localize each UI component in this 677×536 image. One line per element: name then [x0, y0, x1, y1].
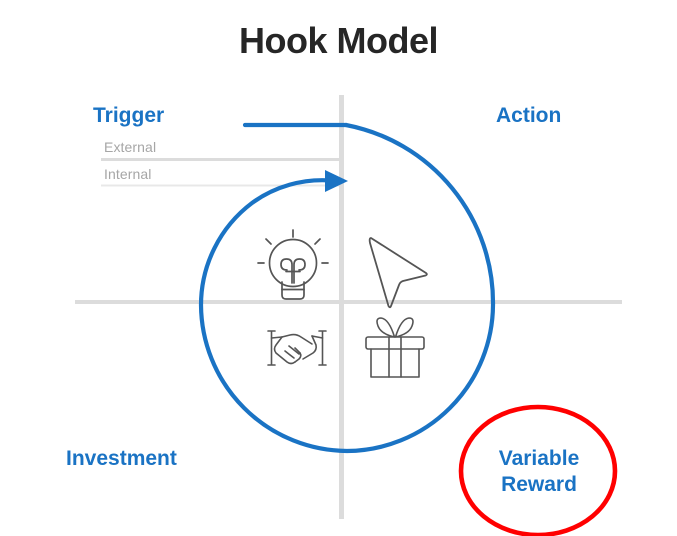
- lightbulb-icon: [258, 230, 328, 299]
- quadrant-label-trigger: Trigger: [93, 104, 164, 128]
- page-title: Hook Model: [0, 20, 677, 62]
- quadrant-label-action: Action: [496, 104, 561, 128]
- trigger-sub-label-external: External: [104, 139, 156, 155]
- cycle-arrowhead-icon: [325, 170, 348, 192]
- variable-reward-line-1: Variable: [499, 447, 580, 470]
- gift-box-icon: [366, 318, 424, 377]
- cursor-arrow-icon: [370, 238, 427, 307]
- cycle-loop-path: [201, 125, 493, 451]
- quadrant-label-investment: Investment: [66, 447, 177, 471]
- trigger-sub-label-internal: Internal: [104, 166, 152, 182]
- quadrant-label-variable-reward: Variable Reward: [487, 446, 591, 497]
- handshake-icon: [268, 331, 326, 365]
- hook-model-diagram: Hook Model Trigger Action Investment Var…: [0, 0, 677, 536]
- variable-reward-line-2: Reward: [501, 473, 577, 496]
